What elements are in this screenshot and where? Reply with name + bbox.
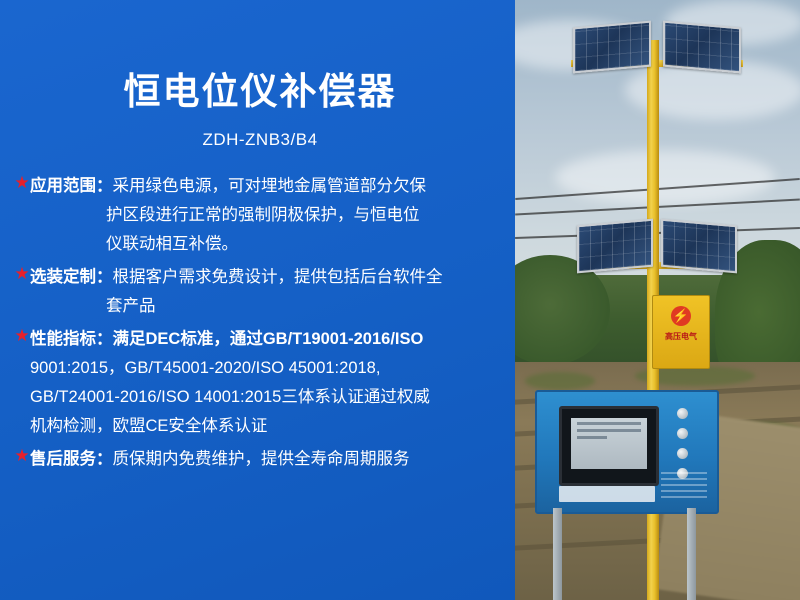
bullet-label: 选装定制： xyxy=(30,268,113,286)
bullet-text: 护区段进行正常的强制阴极保护，与恒电位 xyxy=(14,201,514,230)
enclosure-warning-label: 高压电气 xyxy=(653,332,709,342)
cabinet-nameplate xyxy=(559,486,655,502)
star-icon: ★ xyxy=(14,328,30,344)
cabinet-vent xyxy=(661,470,707,498)
indicator-light xyxy=(677,428,688,439)
star-icon: ★ xyxy=(14,175,30,191)
bullet-label: 应用范围： xyxy=(30,177,113,195)
cabinet-support-post xyxy=(553,508,562,600)
cabinet-support-post xyxy=(687,508,696,600)
list-item: ★ 应用范围：采用绿色电源，可对埋地金属管道部分欠保 护区段进行正常的强制阴极保… xyxy=(14,172,514,259)
star-icon: ★ xyxy=(14,266,30,282)
indicator-light xyxy=(677,448,688,459)
solar-panel xyxy=(573,21,651,74)
bullet-text: 仪联动相互补偿。 xyxy=(14,230,514,259)
solar-panel xyxy=(661,219,737,274)
bullet-text: GB/T24001-2016/ISO 14001:2015三体系认证通过权威 xyxy=(14,383,514,412)
bullet-text: 根据客户需求免费设计，提供包括后台软件全 xyxy=(113,268,443,286)
bullet-text: 套产品 xyxy=(14,292,514,321)
page-title: 恒电位仪补偿器 xyxy=(0,72,520,113)
list-item: ★ 售后服务：质保期内免费维护，提供全寿命周期服务 xyxy=(14,445,514,474)
indicator-light xyxy=(677,408,688,419)
bullet-text: 质保期内免费维护，提供全寿命周期服务 xyxy=(113,450,410,468)
bullet-first-line: 售后服务：质保期内免费维护，提供全寿命周期服务 xyxy=(14,445,514,474)
bullet-label: 性能指标： xyxy=(30,330,113,348)
bullet-text: 采用绿色电源，可对埋地金属管道部分欠保 xyxy=(113,177,427,195)
cabinet-display xyxy=(559,406,659,486)
list-item: ★ 性能指标：满足DEC标准，通过GB/T19001-2016/ISO 9001… xyxy=(14,325,514,441)
lightning-bolt-icon: ⚡ xyxy=(671,306,691,326)
bullet-first-line: 选装定制：根据客户需求免费设计，提供包括后台软件全 xyxy=(14,263,514,292)
display-screen-surface xyxy=(571,418,647,469)
product-photo: ⚡ 高压电气 xyxy=(515,0,800,600)
bullet-label: 售后服务： xyxy=(30,450,113,468)
feature-list: ★ 应用范围：采用绿色电源，可对埋地金属管道部分欠保 护区段进行正常的强制阴极保… xyxy=(14,172,514,478)
solar-panel xyxy=(663,21,741,74)
text-column: 恒电位仪补偿器 ZDH-ZNB3/B4 ★ 应用范围：采用绿色电源，可对埋地金属… xyxy=(0,0,520,600)
cloud-shape xyxy=(555,150,775,205)
high-voltage-enclosure: ⚡ 高压电气 xyxy=(652,295,710,369)
bullet-first-line: 性能指标：满足DEC标准，通过GB/T19001-2016/ISO xyxy=(14,325,514,354)
product-model: ZDH-ZNB3/B4 xyxy=(0,130,520,150)
bullet-text: 满足DEC标准，通过GB/T19001-2016/ISO xyxy=(113,330,424,348)
bullet-text: 机构检测，欧盟CE安全体系认证 xyxy=(14,412,514,441)
list-item: ★ 选装定制：根据客户需求免费设计，提供包括后台软件全 套产品 xyxy=(14,263,514,321)
control-cabinet xyxy=(535,390,719,514)
solar-panel xyxy=(577,219,653,274)
star-icon: ★ xyxy=(14,448,30,464)
bullet-first-line: 应用范围：采用绿色电源，可对埋地金属管道部分欠保 xyxy=(14,172,514,201)
product-poster: 恒电位仪补偿器 ZDH-ZNB3/B4 ★ 应用范围：采用绿色电源，可对埋地金属… xyxy=(0,0,800,600)
bullet-text: 9001:2015，GB/T45001-2020/ISO 45001:2018, xyxy=(14,354,514,383)
